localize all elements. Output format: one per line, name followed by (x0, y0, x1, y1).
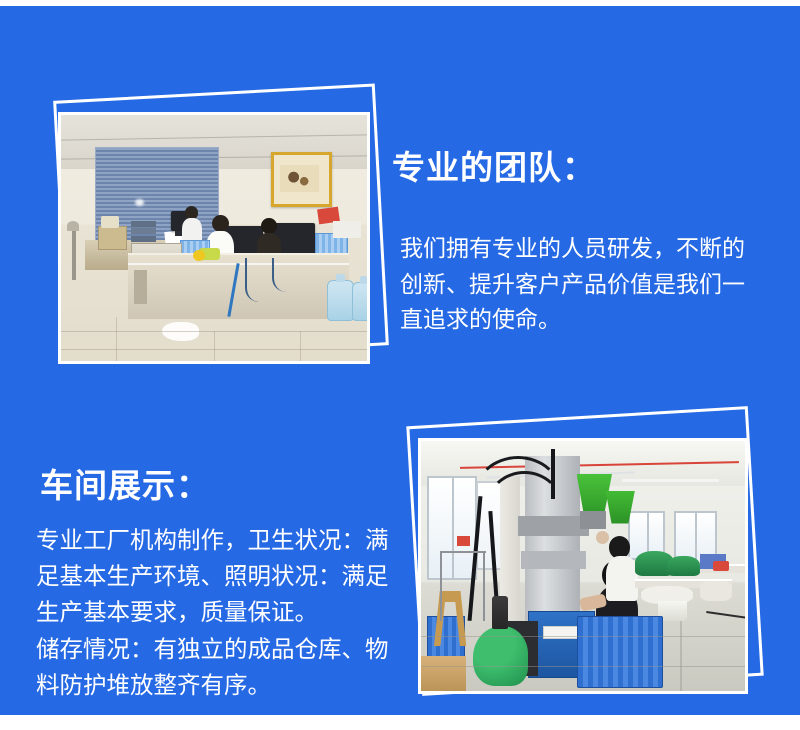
team-section-body: 我们拥有专业的人员研发，不断的 创新、提升客户产品价值是我们一 直追求的使命。 (400, 231, 772, 338)
workshop-section-title: 车间展示： (40, 459, 210, 507)
team-section-title: 专业的团队： (392, 141, 596, 189)
bottom-white-margin (0, 715, 800, 730)
promo-poster: 专业的团队： 我们拥有专业的人员研发，不断的 创新、提升客户产品价值是我们一 直… (0, 0, 800, 730)
workshop-section-body: 专业工厂机构制作，卫生状况：满 足基本生产环境、照明状况：满足 生产基本要求，质… (36, 522, 414, 704)
top-white-margin (0, 0, 800, 6)
workshop-photo (418, 438, 748, 694)
office-team-photo (58, 112, 370, 364)
